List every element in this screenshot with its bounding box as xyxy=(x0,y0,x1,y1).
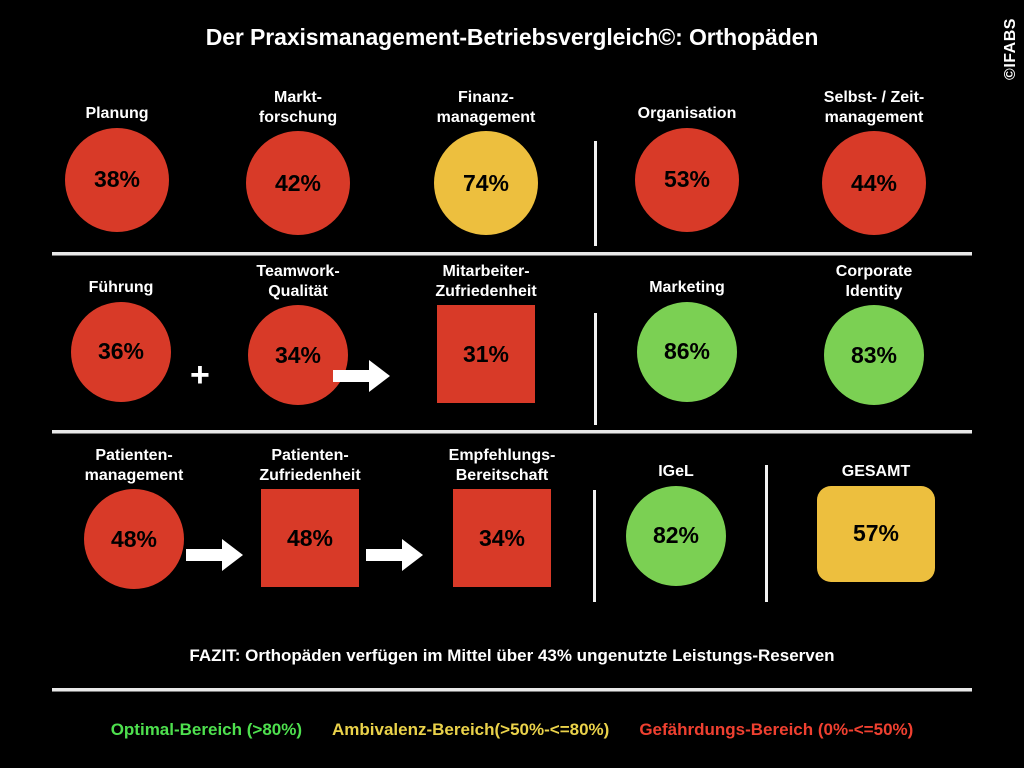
cell-label: Organisation xyxy=(608,104,766,124)
row3-divider-vertical-left xyxy=(593,490,596,602)
row-divider-2 xyxy=(52,430,972,433)
slide-canvas: Der Praxismanagement-Betriebsvergleich©:… xyxy=(0,0,1024,768)
cell-label: Planung xyxy=(38,104,196,124)
value-text: 34% xyxy=(479,525,525,552)
value-text: 86% xyxy=(664,338,710,365)
cell-label: IGeL xyxy=(614,462,738,482)
row-divider-1 xyxy=(52,252,972,255)
cell-gesamt[interactable]: GESAMT 57% xyxy=(796,462,956,582)
cell-empfehlungs-bereitschaft[interactable]: Empfehlungs- Bereitschaft 34% xyxy=(410,446,594,587)
value-circle: 48% xyxy=(84,489,184,589)
value-circle: 36% xyxy=(71,302,171,402)
value-text: 42% xyxy=(275,170,321,197)
value-text: 38% xyxy=(94,166,140,193)
value-square: 31% xyxy=(437,305,535,403)
cell-label: Finanz- management xyxy=(400,88,572,127)
value-circle: 82% xyxy=(626,486,726,586)
cell-finanzmanagement[interactable]: Finanz- management 74% xyxy=(400,88,572,235)
legend-item-optimal: Optimal-Bereich (>80%) xyxy=(111,720,302,740)
cell-label: Teamwork- Qualität xyxy=(218,262,378,301)
cell-corporate-identity[interactable]: Corporate Identity 83% xyxy=(786,262,962,405)
cell-organisation[interactable]: Organisation 53% xyxy=(608,104,766,232)
value-text: 44% xyxy=(851,170,897,197)
value-circle: 86% xyxy=(637,302,737,402)
value-text: 34% xyxy=(275,342,321,369)
value-circle: 74% xyxy=(434,131,538,235)
cell-label: GESAMT xyxy=(796,462,956,482)
fazit-text: FAZIT: Orthopäden verfügen im Mittel übe… xyxy=(0,646,1024,666)
cell-planung[interactable]: Planung 38% xyxy=(38,104,196,232)
cell-label: Patienten- Zufriedenheit xyxy=(218,446,402,485)
value-circle: 83% xyxy=(824,305,924,405)
legend-divider xyxy=(52,688,972,691)
value-text: 57% xyxy=(853,520,899,547)
plus-connector: + xyxy=(190,358,210,392)
value-text: 82% xyxy=(653,522,699,549)
row1-divider-vertical xyxy=(594,141,597,246)
value-square: 48% xyxy=(261,489,359,587)
cell-label: Selbst- / Zeit- management xyxy=(786,88,962,127)
cell-marketing[interactable]: Marketing 86% xyxy=(608,278,766,402)
value-text: 36% xyxy=(98,338,144,365)
value-circle: 38% xyxy=(65,128,169,232)
value-text: 31% xyxy=(463,341,509,368)
copyright-label: ©IFABS xyxy=(1002,18,1020,80)
cell-igel[interactable]: IGeL 82% xyxy=(614,462,738,586)
legend-item-ambivalenz: Ambivalenz-Bereich(>50%-<=80%) xyxy=(332,720,609,740)
value-text: 48% xyxy=(287,525,333,552)
row2-divider-vertical xyxy=(594,313,597,425)
value-square: 34% xyxy=(453,489,551,587)
legend-item-gefaehrdung: Gefährdungs-Bereich (0%-<=50%) xyxy=(639,720,913,740)
value-text: 74% xyxy=(463,170,509,197)
copyright-mark: ©IFABS xyxy=(1000,4,1022,94)
cell-label: Markt- forschung xyxy=(218,88,378,127)
cell-label: Corporate Identity xyxy=(786,262,962,301)
value-circle: 53% xyxy=(635,128,739,232)
arrow-right-icon xyxy=(333,359,391,393)
cell-mitarbeiter-zufriedenheit[interactable]: Mitarbeiter- Zufriedenheit 31% xyxy=(398,262,574,403)
cell-label: Führung xyxy=(42,278,200,298)
row3-divider-vertical-right xyxy=(765,465,768,602)
value-text: 83% xyxy=(851,342,897,369)
value-circle: 42% xyxy=(246,131,350,235)
cell-label: Mitarbeiter- Zufriedenheit xyxy=(398,262,574,301)
page-title: Der Praxismanagement-Betriebsvergleich©:… xyxy=(0,24,1024,51)
value-rounded-square: 57% xyxy=(817,486,935,582)
cell-label: Marketing xyxy=(608,278,766,298)
legend: Optimal-Bereich (>80%) Ambivalenz-Bereic… xyxy=(0,720,1024,740)
value-text: 53% xyxy=(664,166,710,193)
cell-label: Patienten- management xyxy=(42,446,226,485)
cell-selbst-zeitmanagement[interactable]: Selbst- / Zeit- management 44% xyxy=(786,88,962,235)
cell-label: Empfehlungs- Bereitschaft xyxy=(410,446,594,485)
cell-fuehrung[interactable]: Führung 36% xyxy=(42,278,200,402)
cell-marktforschung[interactable]: Markt- forschung 42% xyxy=(218,88,378,235)
value-text: 48% xyxy=(111,526,157,553)
value-circle: 44% xyxy=(822,131,926,235)
